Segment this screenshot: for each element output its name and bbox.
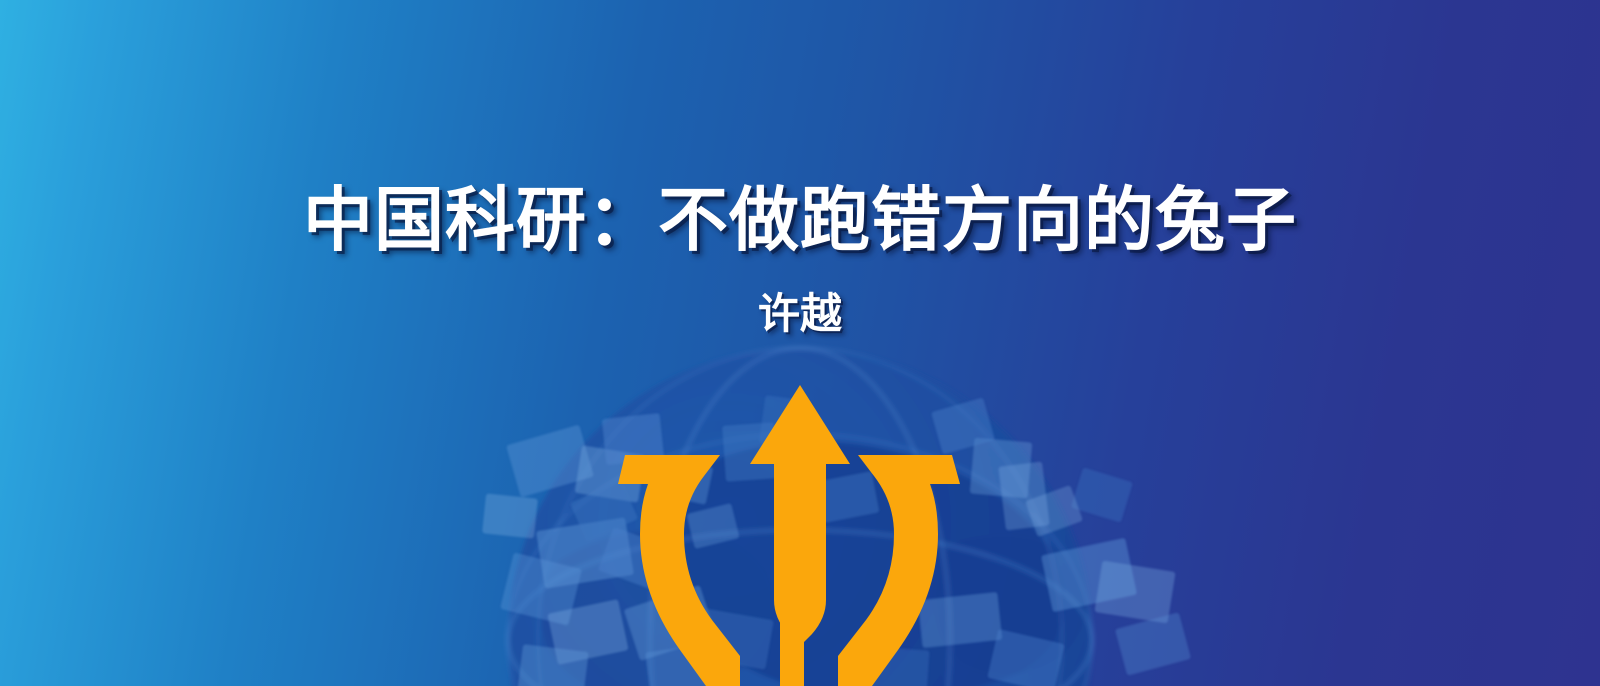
page-title: 中国科研：不做跑错方向的兔子: [0, 174, 1600, 266]
fragment-shapes: [482, 395, 1191, 686]
author-name: 许越: [0, 288, 1600, 340]
slide-background-artwork: [0, 0, 1600, 686]
three-way-arrow: [618, 385, 960, 686]
presentation-slide: 中国科研：不做跑错方向的兔子 许越: [0, 0, 1600, 686]
globe-shape: [508, 348, 1092, 686]
